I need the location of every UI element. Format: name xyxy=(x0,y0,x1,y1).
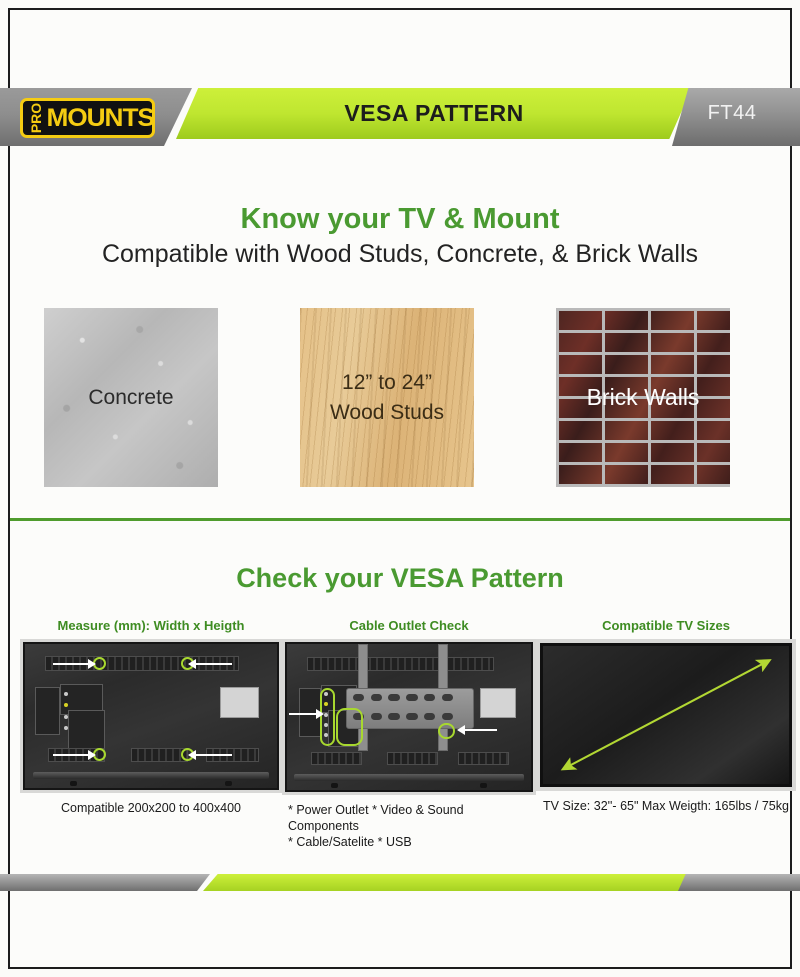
cable-caption-line1: * Power Outlet * Video & Sound Component… xyxy=(288,802,536,834)
cable-outlet-highlight-ports xyxy=(336,708,363,746)
wood-studs-line2: Wood Studs xyxy=(330,398,444,428)
panel-tv-sizes-heading: Compatible TV Sizes xyxy=(536,618,796,633)
cable-arrow-right xyxy=(465,729,497,731)
bracket-hole xyxy=(424,713,435,720)
panel-cable-outlet-caption: * Power Outlet * Video & Sound Component… xyxy=(282,802,536,850)
tv-io-slot xyxy=(35,687,60,735)
promounts-logo: PRO MOUNTS xyxy=(20,98,155,138)
vesa-section-title: Check your VESA Pattern xyxy=(0,563,800,594)
tv-bottom-vent-left xyxy=(311,752,362,765)
page-title: VESA PATTERN xyxy=(176,88,692,139)
wall-tile-wood-studs-label: 12” to 24” Wood Studs xyxy=(330,368,444,428)
tv-back-measure-image xyxy=(20,639,282,793)
tv-spec-label xyxy=(480,688,516,718)
panel-measure-heading: Measure (mm): Width x Heigth xyxy=(20,618,282,633)
footer-band xyxy=(0,874,800,891)
wall-type-tiles: Concrete 12” to 24” Wood Studs Brick Wal… xyxy=(0,308,800,490)
tv-foot-right xyxy=(480,783,487,788)
logo-pro-text: PRO xyxy=(23,101,49,135)
footer-right-gray-shape xyxy=(678,874,800,891)
wall-tile-brick: Brick Walls xyxy=(556,308,730,487)
bracket-hole xyxy=(388,713,399,720)
bracket-hole xyxy=(388,694,399,701)
section-divider xyxy=(10,518,790,521)
tv-spec-label xyxy=(220,687,260,718)
tv-base-bar xyxy=(33,772,270,779)
cable-outlet-highlight-right xyxy=(438,723,455,739)
io-dot xyxy=(64,715,68,719)
tv-bottom-vent-right xyxy=(458,752,509,765)
footer-left-gray-shape xyxy=(0,874,210,891)
wood-studs-line1: 12” to 24” xyxy=(330,368,444,398)
tv-foot-right xyxy=(225,781,232,786)
footer-green-shape xyxy=(203,874,693,891)
tv-bottom-vent-mid xyxy=(131,748,188,762)
measure-arrow-top-left xyxy=(53,663,88,665)
bracket-hole xyxy=(371,694,382,701)
bracket-hole xyxy=(371,713,382,720)
measure-arrow-bottom-left xyxy=(53,754,88,756)
walls-section-subtitle: Compatible with Wood Studs, Concrete, & … xyxy=(0,240,800,269)
io-dot xyxy=(64,692,68,696)
tv-front-image xyxy=(536,639,796,791)
panel-measure: Measure (mm): Width x Heigth xyxy=(20,618,282,816)
vesa-pattern-page: VESA PATTERN FT44 PRO MOUNTS Know your T… xyxy=(0,0,800,977)
panel-tv-sizes: Compatible TV Sizes TV Size: 32''- 65 xyxy=(536,618,796,814)
wall-tile-concrete-label: Concrete xyxy=(88,386,173,410)
tv-io-ports xyxy=(68,710,105,749)
measure-arrow-bottom-right xyxy=(196,754,231,756)
bracket-hole xyxy=(353,694,364,701)
logo-pro-label: PRO xyxy=(28,103,44,133)
wall-tile-concrete: Concrete xyxy=(44,308,218,487)
logo-mounts-text: MOUNTS xyxy=(49,104,152,133)
tv-screen xyxy=(540,643,792,787)
measure-arrow-top-right xyxy=(196,663,231,665)
tv-top-vent xyxy=(307,657,494,671)
panel-tv-sizes-caption: TV Size: 32''- 65" Max Weigth: 165lbs / … xyxy=(536,798,796,814)
bracket-hole xyxy=(406,713,417,720)
panel-cable-outlet: Cable Outlet Check xyxy=(282,618,536,850)
cable-caption-line2: * Cable/Satelite * USB xyxy=(288,834,536,850)
tv-back-with-mount-image xyxy=(282,639,536,795)
panel-cable-outlet-heading: Cable Outlet Check xyxy=(282,618,536,633)
tv-base-bar xyxy=(294,774,523,781)
tv-foot-left xyxy=(331,783,338,788)
logo-mounts-label: MOUNTS xyxy=(47,104,154,133)
diagonal-measure-arrow-icon xyxy=(558,654,774,775)
wall-tile-wood-studs: 12” to 24” Wood Studs xyxy=(300,308,474,487)
tv-foot-left xyxy=(70,781,77,786)
tv-bottom-vent-mid xyxy=(387,752,438,765)
bracket-hole xyxy=(424,694,435,701)
bracket-hole xyxy=(442,713,453,720)
model-number-badge: FT44 xyxy=(672,88,792,139)
panel-measure-caption: Compatible 200x200 to 400x400 xyxy=(20,800,282,816)
bracket-hole xyxy=(406,694,417,701)
mount-bracket-plate xyxy=(346,688,475,729)
wall-tile-brick-label: Brick Walls xyxy=(587,384,700,411)
bracket-hole xyxy=(442,694,453,701)
walls-section-title: Know your TV & Mount xyxy=(0,203,800,236)
cable-arrow-left xyxy=(289,713,316,715)
